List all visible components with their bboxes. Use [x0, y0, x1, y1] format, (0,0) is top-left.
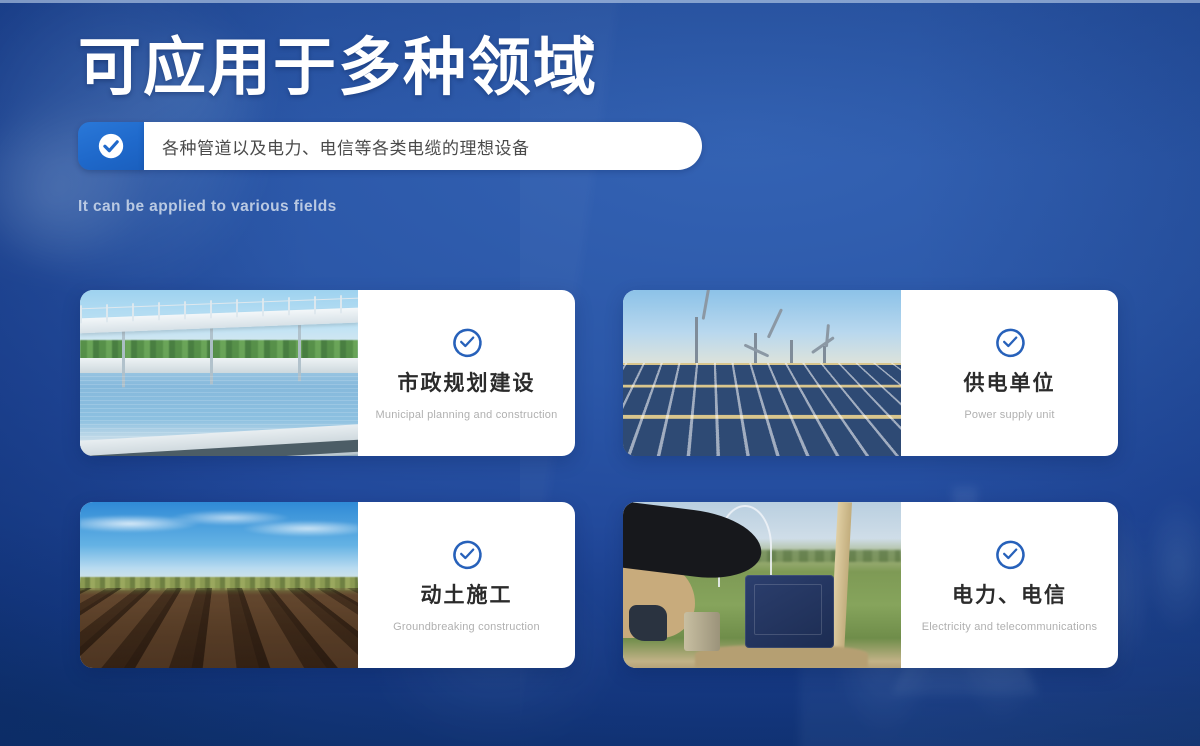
card-row-2: 动土施工 Groundbreaking construction — [80, 502, 1118, 668]
card-title-cn: 电力、电信 — [952, 583, 1067, 608]
check-circle-outline-icon — [450, 325, 484, 359]
card-title-en: Power supply unit — [964, 409, 1054, 421]
card-photo-water-treatment — [80, 290, 358, 456]
application-card-municipal[interactable]: 市政规划建设 Municipal planning and constructi… — [80, 290, 575, 456]
check-circle-outline-icon — [993, 537, 1027, 571]
check-circle-outline-icon — [993, 325, 1027, 359]
card-title-en: Electricity and telecommunications — [922, 621, 1098, 633]
card-title-cn: 市政规划建设 — [398, 371, 536, 396]
card-info: 市政规划建设 Municipal planning and constructi… — [358, 290, 575, 456]
check-circle-filled-icon — [96, 131, 126, 161]
tagline-body: 各种管道以及电力、电信等各类电缆的理想设备 — [144, 122, 702, 170]
tagline-banner: 各种管道以及电力、电信等各类电缆的理想设备 — [78, 122, 702, 170]
tagline-badge — [78, 122, 144, 170]
application-card-power-supply[interactable]: 供电单位 Power supply unit — [623, 290, 1118, 456]
card-photo-field-worker — [623, 502, 901, 668]
card-photo-wind-solar — [623, 290, 901, 456]
hero-header: 可应用于多种领域 各种管道以及电力、电信等各类电缆的理想设备 It can be… — [78, 36, 978, 216]
card-info: 供电单位 Power supply unit — [901, 290, 1118, 456]
card-photo-plowed-field — [80, 502, 358, 668]
check-circle-outline-icon — [450, 537, 484, 571]
card-title-cn: 供电单位 — [964, 371, 1056, 396]
card-info: 电力、电信 Electricity and telecommunications — [901, 502, 1118, 668]
application-card-groundbreaking[interactable]: 动土施工 Groundbreaking construction — [80, 502, 575, 668]
top-divider — [0, 0, 1200, 3]
application-card-grid: 市政规划建设 Municipal planning and constructi… — [80, 290, 1118, 668]
application-card-electricity-telecom[interactable]: 电力、电信 Electricity and telecommunications — [623, 502, 1118, 668]
card-row-1: 市政规划建设 Municipal planning and constructi… — [80, 290, 1118, 456]
tagline-text: 各种管道以及电力、电信等各类电缆的理想设备 — [144, 134, 530, 159]
promo-banner: 可应用于多种领域 各种管道以及电力、电信等各类电缆的理想设备 It can be… — [0, 0, 1200, 746]
card-title-en: Groundbreaking construction — [393, 621, 540, 633]
page-subtitle: It can be applied to various fields — [78, 198, 978, 216]
page-title: 可应用于多种领域 — [78, 36, 978, 100]
card-title-cn: 动土施工 — [421, 583, 513, 608]
card-title-en: Municipal planning and construction — [376, 409, 558, 421]
card-info: 动土施工 Groundbreaking construction — [358, 502, 575, 668]
